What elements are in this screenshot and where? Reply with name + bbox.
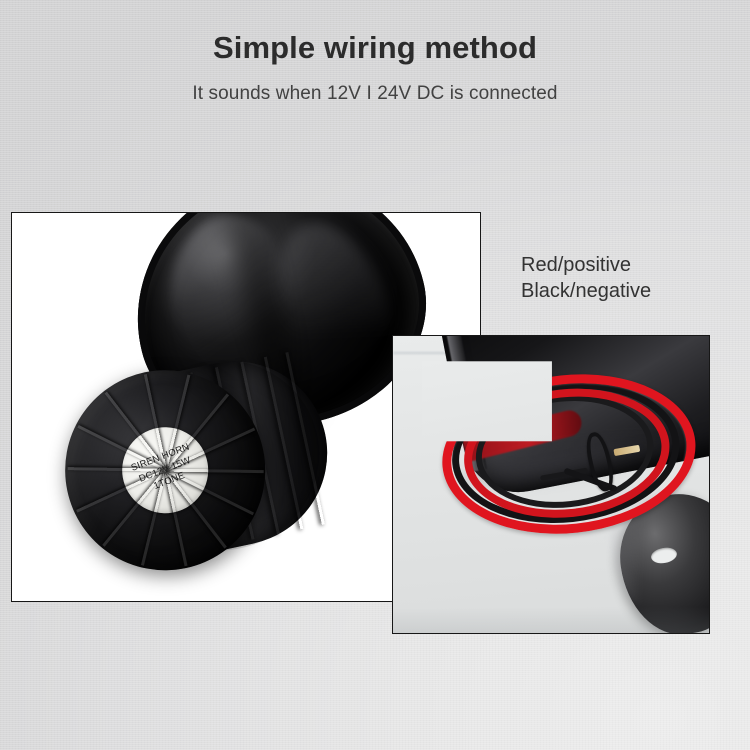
page-subtitle: It sounds when 12V I 24V DC is connected <box>0 83 750 105</box>
page-title: Simple wiring method <box>0 30 750 66</box>
wiring-annotation: Red/positive Black/negative <box>521 252 651 304</box>
wire-closeup-image <box>393 336 709 633</box>
closeup-bottom-shading <box>393 607 709 633</box>
annotation-line-negative: Black/negative <box>521 278 651 304</box>
infographic-canvas: Simple wiring method It sounds when 12V … <box>0 0 750 750</box>
horn-motor-housing: SIREN HORN DC12V 15W 1TONE <box>47 337 352 585</box>
wire-closeup-photo <box>392 335 710 634</box>
wire-coil <box>434 364 683 528</box>
annotation-line-positive: Red/positive <box>521 252 651 278</box>
coil-top-mask <box>422 361 552 441</box>
